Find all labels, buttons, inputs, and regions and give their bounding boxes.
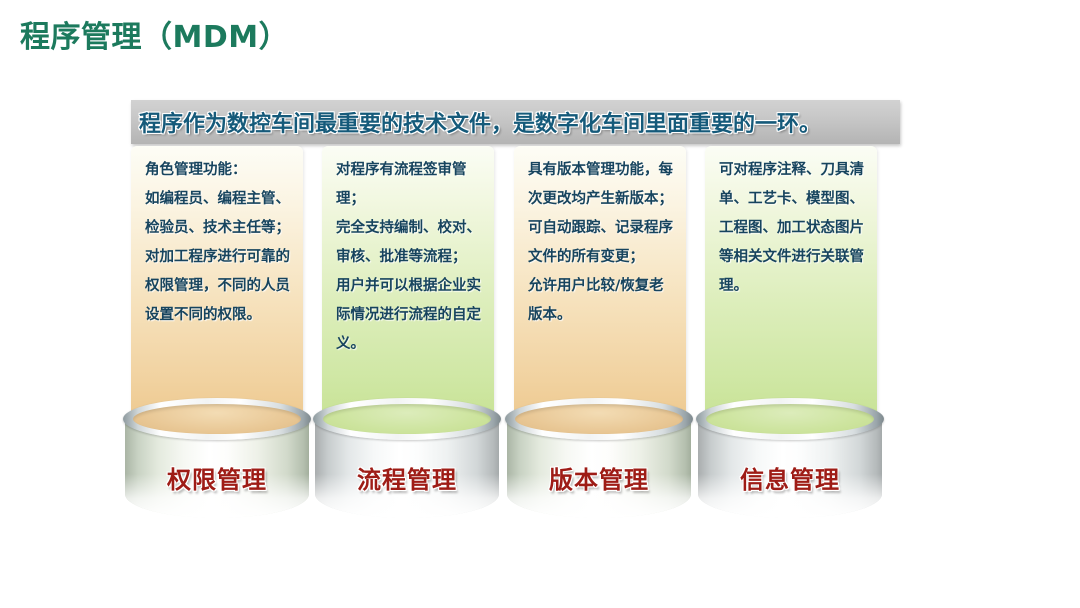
feature-panel-text: 对程序有流程签审管理； 完全支持编制、校对、审核、批准等流程； 用户并可以根据企… (336, 156, 482, 359)
cylinder-version: 版本管理 (505, 398, 693, 528)
feature-panel-version: 具有版本管理功能，每次更改均产生新版本； 可自动跟踪、记录程序文件的所有变更； … (514, 146, 686, 412)
cylinder-permission: 权限管理 (123, 398, 311, 528)
feature-panel-text: 具有版本管理功能，每次更改均产生新版本； 可自动跟踪、记录程序文件的所有变更； … (528, 156, 674, 330)
page-title: 程序管理（MDM） (20, 12, 289, 56)
cylinder-opening (323, 404, 491, 434)
cylinder-information: 信息管理 (696, 398, 884, 528)
feature-panel-permission: 角色管理功能： 如编程员、编程主管、检验员、技术主任等； 对加工程序进行可靠的权… (131, 146, 303, 412)
page-title-abbreviation: MDM (173, 20, 259, 55)
cylinder-opening (515, 404, 683, 434)
cylinder-label: 版本管理 (505, 460, 693, 495)
cylinder-workflow: 流程管理 (313, 398, 501, 528)
page-title-cn: 程序管理（ (20, 20, 173, 55)
feature-panel-text: 可对程序注释、刀具清单、工艺卡、模型图、工程图、加工状态图片等相关文件进行关联管… (719, 156, 865, 301)
headline-banner: 程序作为数控车间最重要的技术文件，是数字化车间里面重要的一环。 (131, 100, 900, 144)
cylinder-label: 权限管理 (123, 460, 311, 495)
feature-panel-workflow: 对程序有流程签审管理； 完全支持编制、校对、审核、批准等流程； 用户并可以根据企… (322, 146, 494, 412)
page-title-close-paren: ） (259, 20, 290, 55)
cylinder-label: 流程管理 (313, 460, 501, 495)
cylinder-label: 信息管理 (696, 460, 884, 495)
headline-banner-text: 程序作为数控车间最重要的技术文件，是数字化车间里面重要的一环。 (139, 106, 821, 138)
cylinder-opening (706, 404, 874, 434)
feature-panel-text: 角色管理功能： 如编程员、编程主管、检验员、技术主任等； 对加工程序进行可靠的权… (145, 156, 291, 330)
feature-panel-information: 可对程序注释、刀具清单、工艺卡、模型图、工程图、加工状态图片等相关文件进行关联管… (705, 146, 877, 412)
cylinder-opening (133, 404, 301, 434)
